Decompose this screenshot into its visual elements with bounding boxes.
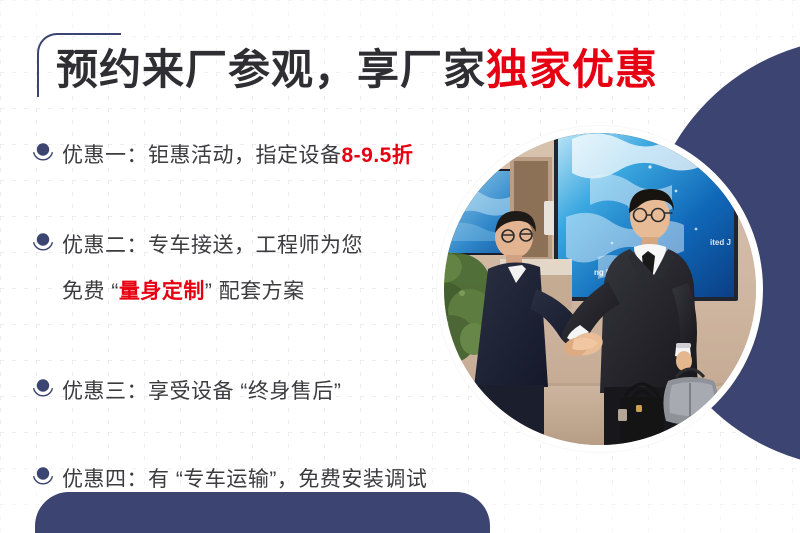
offer-text: 优惠一：钜惠活动，指定设备8-9.5折: [62, 133, 413, 179]
offer-body: 有 “专车运输”，免费安装调试: [148, 468, 427, 491]
list-item: 优惠一：钜惠活动，指定设备8-9.5折: [30, 133, 460, 179]
headline-accent: 独家优惠: [486, 46, 658, 93]
photo-circle-frame: ng United ited J: [437, 126, 763, 452]
offer-text: 优惠三：享受设备 “终身售后”: [62, 369, 341, 415]
page-title: 预约来厂参观，享厂家独家优惠: [56, 46, 658, 94]
offer-body: 享受设备 “终身售后”: [148, 380, 341, 403]
list-item: 优惠二：专车接送，工程师为您免费 “量身定制” 配套方案: [30, 223, 460, 315]
list-item: 优惠四：有 “专车运输”，免费安装调试: [30, 457, 460, 503]
bullet-dot-arc-icon: [30, 229, 56, 255]
offer-body: 钜惠活动，指定设备: [148, 144, 342, 167]
handshake-photo: ng United ited J: [444, 133, 756, 445]
promo-banner: 预约来厂参观，享厂家独家优惠 优惠一：钜惠活动，指定设备8-9.5折 优惠二：专…: [0, 0, 800, 533]
headline-main: 预约来厂参观，享厂家: [56, 46, 486, 93]
offer-line2-accent: 量身定制: [119, 280, 205, 303]
offer-text: 优惠二：专车接送，工程师为您免费 “量身定制” 配套方案: [62, 223, 363, 315]
bullet-dot-arc-icon: [30, 463, 56, 489]
screen-caption-right: ited J: [710, 238, 731, 247]
offer-label: 优惠一：: [62, 144, 148, 167]
bullet-dot-arc-icon: [30, 375, 56, 401]
bullet-dot-arc-icon: [30, 139, 56, 165]
offer-line2-before: 免费 “: [62, 280, 119, 303]
offer-line2-after: ” 配套方案: [205, 280, 305, 303]
offer-body: 专车接送，工程师为您: [148, 234, 363, 257]
list-item: 优惠三：享受设备 “终身售后”: [30, 369, 460, 415]
offer-label: 优惠二：: [62, 234, 148, 257]
offers-list: 优惠一：钜惠活动，指定设备8-9.5折 优惠二：专车接送，工程师为您免费 “量身…: [30, 133, 460, 503]
offer-accent: 8-9.5折: [342, 144, 414, 167]
offer-label: 优惠四：: [62, 468, 148, 491]
offer-text: 优惠四：有 “专车运输”，免费安装调试: [62, 457, 427, 503]
offer-second-line: 免费 “量身定制” 配套方案: [62, 269, 363, 315]
offer-label: 优惠三：: [62, 380, 148, 403]
